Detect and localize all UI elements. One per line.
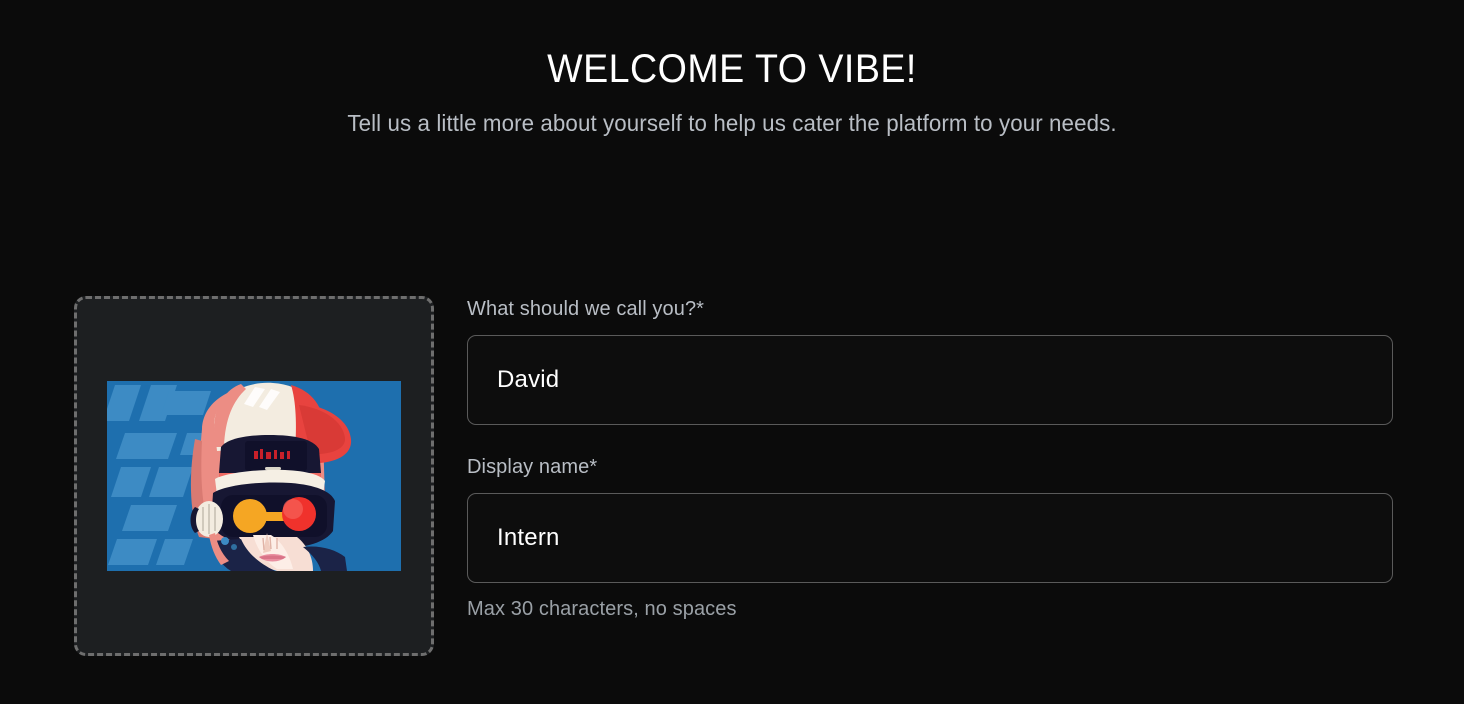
- profile-form: What should we call you?* Display name* …: [434, 296, 1464, 622]
- display-name-help-text: Max 30 characters, no spaces: [467, 596, 1393, 622]
- page-subtitle: Tell us a little more about yourself to …: [22, 108, 1442, 138]
- field-group-name: What should we call you?*: [467, 296, 1393, 425]
- page-header: WELCOME TO VIBE! Tell us a little more a…: [0, 0, 1464, 138]
- label-what-should-we-call-you: What should we call you?*: [467, 296, 1393, 322]
- avatar-preview-image[interactable]: [107, 381, 401, 571]
- onboarding-content: What should we call you?* Display name* …: [0, 296, 1464, 656]
- label-display-name: Display name*: [467, 454, 1393, 480]
- field-group-display-name: Display name* Max 30 characters, no spac…: [467, 454, 1393, 622]
- avatar-upload-dropzone[interactable]: [74, 296, 434, 656]
- avatar-column: [0, 296, 434, 656]
- name-input[interactable]: [467, 335, 1393, 425]
- display-name-input[interactable]: [467, 493, 1393, 583]
- page-title: WELCOME TO VIBE!: [44, 44, 1420, 94]
